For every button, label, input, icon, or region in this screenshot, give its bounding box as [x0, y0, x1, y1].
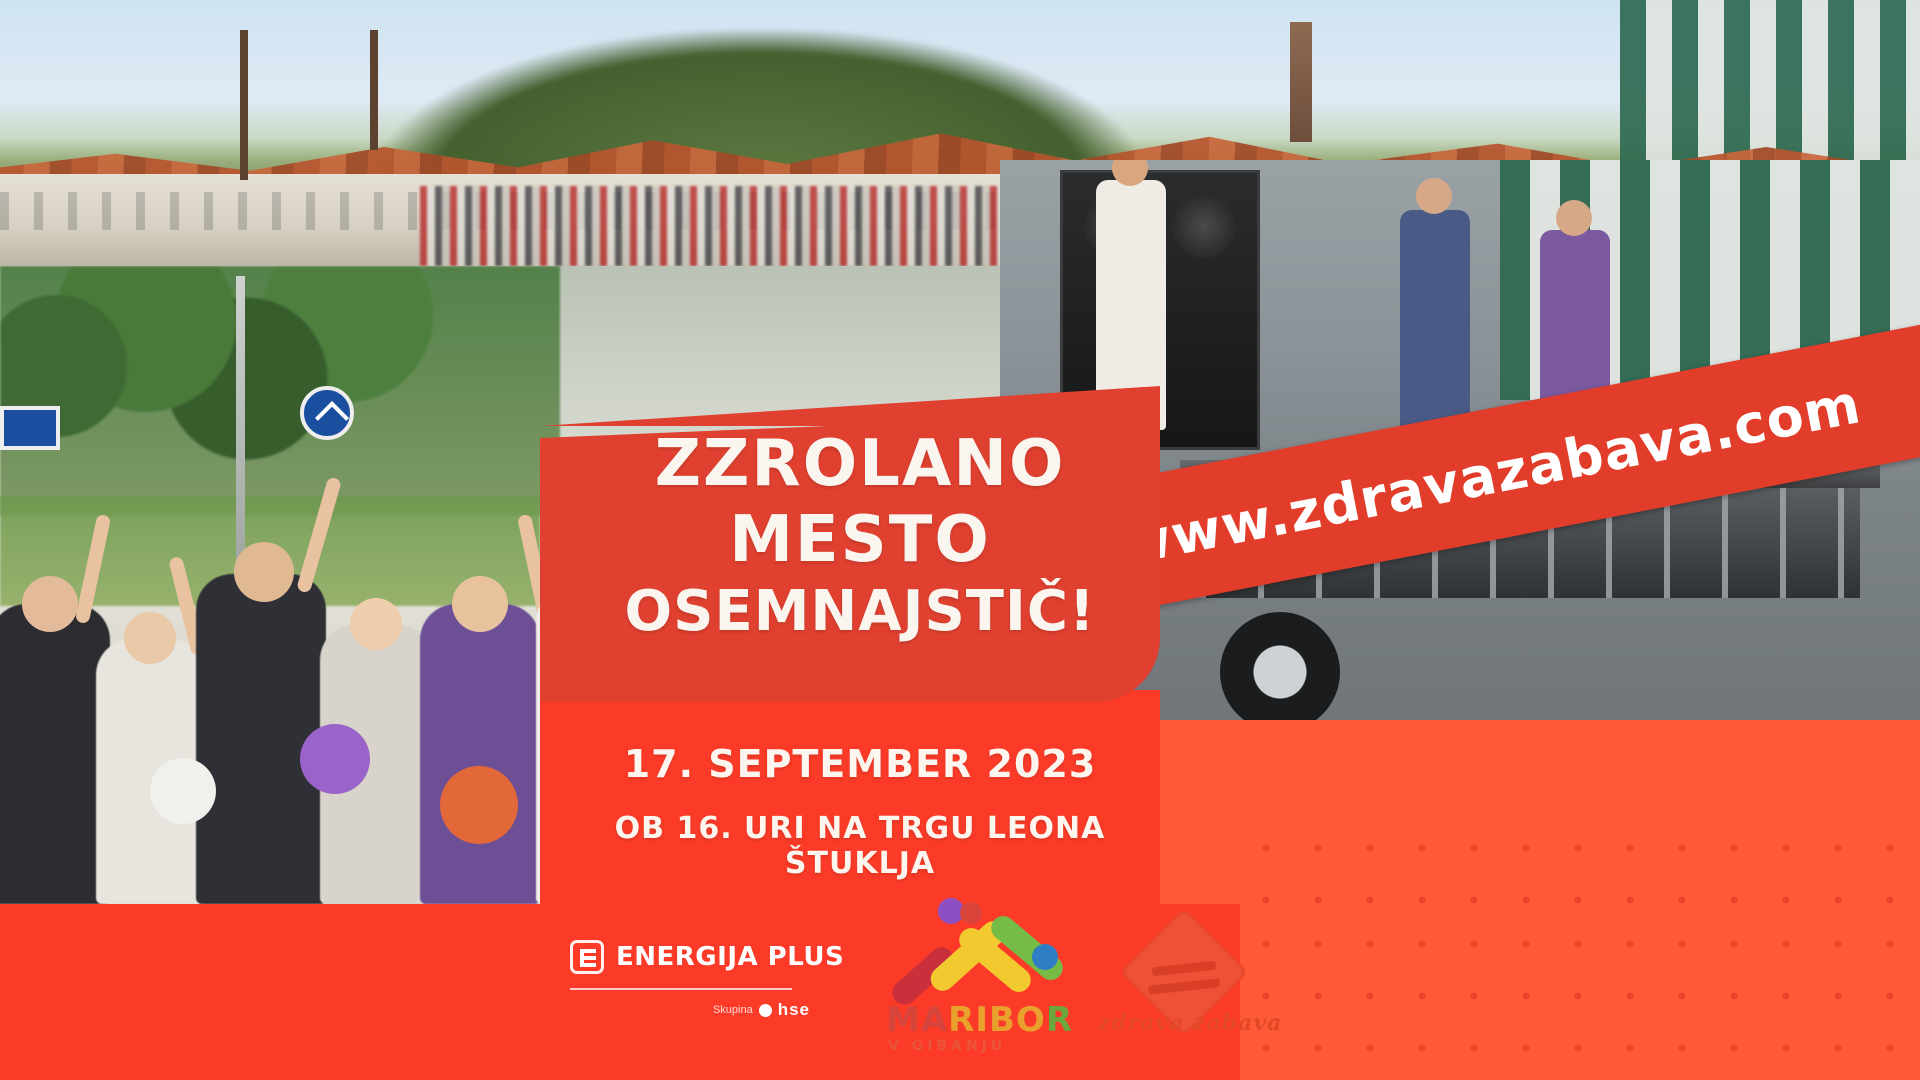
event-details-block: 17. SEPTEMBER 2023 OB 16. URI NA TRGU LE… [560, 742, 1160, 881]
event-venue-line-2: ŠTUKLJA [560, 847, 1160, 882]
person-head [124, 612, 176, 664]
event-venue-line-1: OB 16. URI NA TRGU LEONA [560, 812, 1160, 847]
divider-rule [570, 988, 792, 990]
maribor-tagline: V GIBANJU [888, 1038, 1006, 1054]
sponsor-logo-row: ENERGIJA PLUS Skupina hse MARIBOR V GIBA… [0, 904, 1920, 1080]
church-tower [1290, 22, 1312, 142]
maribor-chevron-mark [880, 914, 1070, 1004]
person-head [150, 758, 216, 824]
energija-plus-icon [570, 940, 604, 974]
person-head [452, 576, 508, 632]
event-date: 17. SEPTEMBER 2023 [560, 742, 1160, 786]
zdrava-zabava-wordmark: zdrava zabava [1090, 1010, 1290, 1036]
vehicle-wheel [1220, 612, 1340, 720]
headline-line-1: ZZROLANO [560, 432, 1160, 496]
raised-arm [296, 476, 342, 593]
dj-head [1416, 178, 1452, 214]
hse-group-prefix: Skupina [713, 1004, 753, 1016]
hse-group-lockup: Skupina hse [570, 1000, 810, 1020]
person-head [234, 542, 294, 602]
dot-pattern-upper [1230, 800, 1920, 904]
person-head [22, 576, 78, 632]
energija-lockup: ENERGIJA PLUS [570, 940, 810, 974]
event-venue: OB 16. URI NA TRGU LEONA ŠTUKLJA [560, 812, 1160, 881]
raised-arm [75, 514, 112, 625]
logo-energija-plus[interactable]: ENERGIJA PLUS Skupina hse [570, 940, 810, 1020]
person [420, 604, 540, 904]
maribor-wordmark: MARIBOR [886, 1000, 1073, 1040]
chevron-dot-red [960, 902, 982, 924]
headline-block: ZZROLANO MESTO OSEMNAJSTIČ! [560, 432, 1160, 640]
street-lamp [370, 30, 378, 150]
hse-dot-icon [759, 1004, 772, 1017]
person [0, 604, 110, 904]
child-helmet [300, 724, 370, 794]
dj-person [1400, 210, 1470, 440]
person-head [350, 598, 402, 650]
energija-plus-wordmark: ENERGIJA PLUS [616, 942, 844, 972]
headline-line-3: OSEMNAJSTIČ! [560, 584, 1160, 640]
red-hair-head [440, 766, 518, 844]
headline-line-2: MESTO [560, 508, 1160, 572]
logo-maribor[interactable]: MARIBOR V GIBANJU [880, 914, 1070, 1064]
event-poster: www.zdravazabava.com ZZROLANO MESTO OSEM… [0, 0, 1920, 1080]
chevron-dot-blue [1032, 944, 1058, 970]
dj-head [1556, 200, 1592, 236]
street-lamp [240, 30, 248, 180]
logo-zdrava-zabava[interactable]: zdrava zabava [1090, 926, 1290, 1056]
hse-wordmark: hse [778, 1000, 810, 1020]
